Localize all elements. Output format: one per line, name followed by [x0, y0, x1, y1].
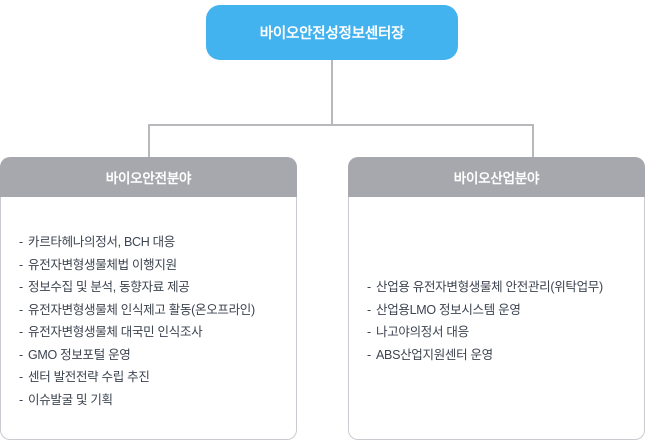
list-item: -유전자변형생물체 대국민 인식조사 [19, 321, 278, 344]
list-item: -유전자변형생물체법 이행지원 [19, 254, 278, 277]
root-node-label: 바이오안전성정보센터장 [260, 22, 405, 43]
bullet-icon: - [367, 276, 376, 299]
list-item: -ABS산업지원센터 운영 [367, 344, 626, 367]
branch-body-bio-safety: -카르타헤나의정서, BCH 대응 -유전자변형생물체법 이행지원 -정보수집 … [0, 197, 297, 440]
bullet-icon: - [367, 344, 376, 367]
bullet-icon: - [19, 231, 28, 254]
branch-bio-industry: 바이오산업분야 -산업용 유전자변형생물체 안전관리(위탁업무) -산업용LMO… [348, 157, 645, 440]
bullet-icon: - [19, 344, 28, 367]
bullet-icon: - [19, 276, 28, 299]
list-item-label: 카르타헤나의정서, BCH 대응 [28, 235, 175, 249]
list-item: -카르타헤나의정서, BCH 대응 [19, 231, 278, 254]
list-item-label: 유전자변형생물체 인식제고 활동(온오프라인) [28, 303, 255, 317]
list-item: -정보수집 및 분석, 동향자료 제공 [19, 276, 278, 299]
branch-body-bio-industry: -산업용 유전자변형생물체 안전관리(위탁업무) -산업용LMO 정보시스템 운… [348, 197, 645, 440]
connector-horizontal-bar [148, 124, 534, 126]
list-item: -나고야의정서 대응 [367, 321, 626, 344]
list-item: -GMO 정보포털 운영 [19, 344, 278, 367]
connector-vertical-right [532, 124, 534, 157]
bullet-icon: - [19, 254, 28, 277]
bullet-icon: - [19, 299, 28, 322]
list-item-label: GMO 정보포털 운영 [28, 348, 131, 362]
list-item: -유전자변형생물체 인식제고 활동(온오프라인) [19, 299, 278, 322]
branch-header-bio-safety[interactable]: 바이오안전분야 [0, 157, 297, 197]
branch-bio-safety: 바이오안전분야 -카르타헤나의정서, BCH 대응 -유전자변형생물체법 이행지… [0, 157, 297, 440]
branch-item-list: -산업용 유전자변형생물체 안전관리(위탁업무) -산업용LMO 정보시스템 운… [367, 276, 626, 366]
list-item-label: 정보수집 및 분석, 동향자료 제공 [28, 280, 189, 294]
bullet-icon: - [367, 299, 376, 322]
bullet-icon: - [19, 366, 28, 389]
list-item-label: 유전자변형생물체법 이행지원 [28, 258, 177, 272]
bullet-icon: - [367, 321, 376, 344]
branch-header-bio-industry[interactable]: 바이오산업분야 [348, 157, 645, 197]
list-item: -센터 발전전략 수립 추진 [19, 366, 278, 389]
branch-title-label: 바이오산업분야 [454, 167, 540, 187]
connector-vertical-left [148, 124, 150, 157]
list-item: -산업용LMO 정보시스템 운영 [367, 299, 626, 322]
list-item-label: 산업용 유전자변형생물체 안전관리(위탁업무) [376, 280, 603, 294]
bullet-icon: - [19, 389, 28, 412]
list-item-label: 산업용LMO 정보시스템 운영 [376, 303, 521, 317]
org-chart: 바이오안전성정보센터장 바이오안전분야 -카르타헤나의정서, BCH 대응 -유… [0, 0, 663, 442]
branch-title-label: 바이오안전분야 [106, 167, 192, 187]
bullet-icon: - [19, 321, 28, 344]
branch-item-list: -카르타헤나의정서, BCH 대응 -유전자변형생물체법 이행지원 -정보수집 … [19, 231, 278, 411]
list-item-label: 나고야의정서 대응 [376, 325, 469, 339]
list-item-label: 유전자변형생물체 대국민 인식조사 [28, 325, 202, 339]
list-item-label: 센터 발전전략 수립 추진 [28, 370, 150, 384]
root-node[interactable]: 바이오안전성정보센터장 [206, 5, 458, 60]
list-item-label: 이슈발굴 및 기획 [28, 393, 113, 407]
list-item: -산업용 유전자변형생물체 안전관리(위탁업무) [367, 276, 626, 299]
list-item-label: ABS산업지원센터 운영 [376, 348, 493, 362]
list-item: -이슈발굴 및 기획 [19, 389, 278, 412]
connector-vertical-stem [331, 60, 333, 125]
